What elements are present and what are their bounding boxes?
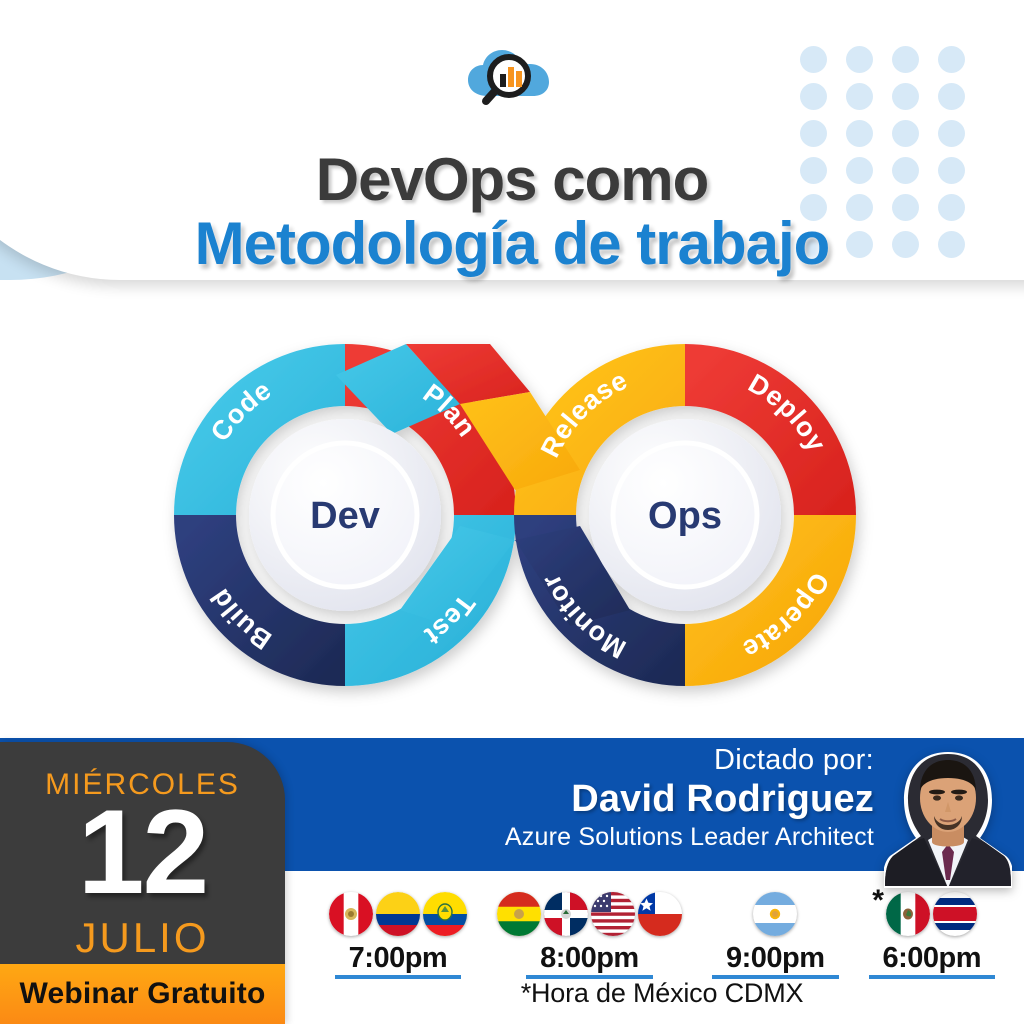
flag-set: [753, 890, 797, 938]
flag-united-states-icon: [591, 892, 635, 936]
speaker-role: Azure Solutions Leader Architect: [314, 822, 874, 853]
timezone-time: 7:00pm: [335, 942, 462, 979]
dot: [846, 83, 873, 110]
dot: [892, 83, 919, 110]
timezone-group: * 6:00pm: [869, 890, 996, 979]
free-webinar-label: Webinar Gratuito: [20, 977, 266, 1011]
speaker-intro: Dictado por:: [314, 744, 874, 777]
dot: [938, 46, 965, 73]
dot: [800, 120, 827, 147]
timezone-group: 9:00pm: [712, 890, 839, 979]
dot: [846, 46, 873, 73]
devops-infinity-diagram: Code Plan Test Build Release Deploy Oper…: [160, 330, 870, 700]
flag-set: *: [886, 890, 977, 938]
dot: [892, 46, 919, 73]
dot: [892, 120, 919, 147]
dot: [938, 83, 965, 110]
asterisk-marker: *: [872, 884, 884, 918]
date-day-number: 12: [0, 792, 285, 912]
flag-argentina-icon: [753, 892, 797, 936]
title-line-1: DevOps como: [0, 150, 1024, 210]
ops-hub-label: Ops: [648, 495, 722, 537]
flag-set: [329, 890, 467, 938]
webinar-poster: DevOps como Metodología de trabajo: [0, 0, 1024, 1024]
cloud-magnifier-chart-logo: [462, 46, 562, 108]
timezone-time: 6:00pm: [869, 942, 996, 979]
timezone-note: *Hora de México CDMX: [300, 978, 1024, 1009]
flag-chile-icon: [638, 892, 682, 936]
flag-bolivia-icon: [497, 892, 541, 936]
date-month: JULIO: [0, 914, 285, 962]
poster-title: DevOps como Metodología de trabajo: [0, 150, 1024, 277]
timezone-time: 9:00pm: [712, 942, 839, 979]
flag-ecuador-icon: [423, 892, 467, 936]
dot: [846, 120, 873, 147]
flag-dominican-republic-icon: [544, 892, 588, 936]
flag-set: [497, 890, 682, 938]
dev-hub-label: Dev: [310, 495, 380, 537]
flag-mexico-icon: [886, 892, 930, 936]
title-line-2: Metodología de trabajo: [0, 212, 1024, 277]
timezone-group: 7:00pm: [329, 890, 467, 979]
timezone-time: 8:00pm: [526, 942, 653, 979]
flag-peru-icon: [329, 892, 373, 936]
dot: [800, 46, 827, 73]
timezone-row: 7:00pm 8:00pm: [300, 890, 1024, 980]
speaker-portrait-photo: [884, 752, 1012, 888]
flag-colombia-icon: [376, 892, 420, 936]
speaker-name: David Rodriguez: [314, 777, 874, 822]
dot: [938, 120, 965, 147]
speaker-info: Dictado por: David Rodriguez Azure Solut…: [314, 744, 874, 853]
flag-costa-rica-icon: [933, 892, 977, 936]
dot: [800, 83, 827, 110]
free-webinar-badge: Webinar Gratuito: [0, 964, 285, 1024]
timezone-group: 8:00pm: [497, 890, 682, 979]
